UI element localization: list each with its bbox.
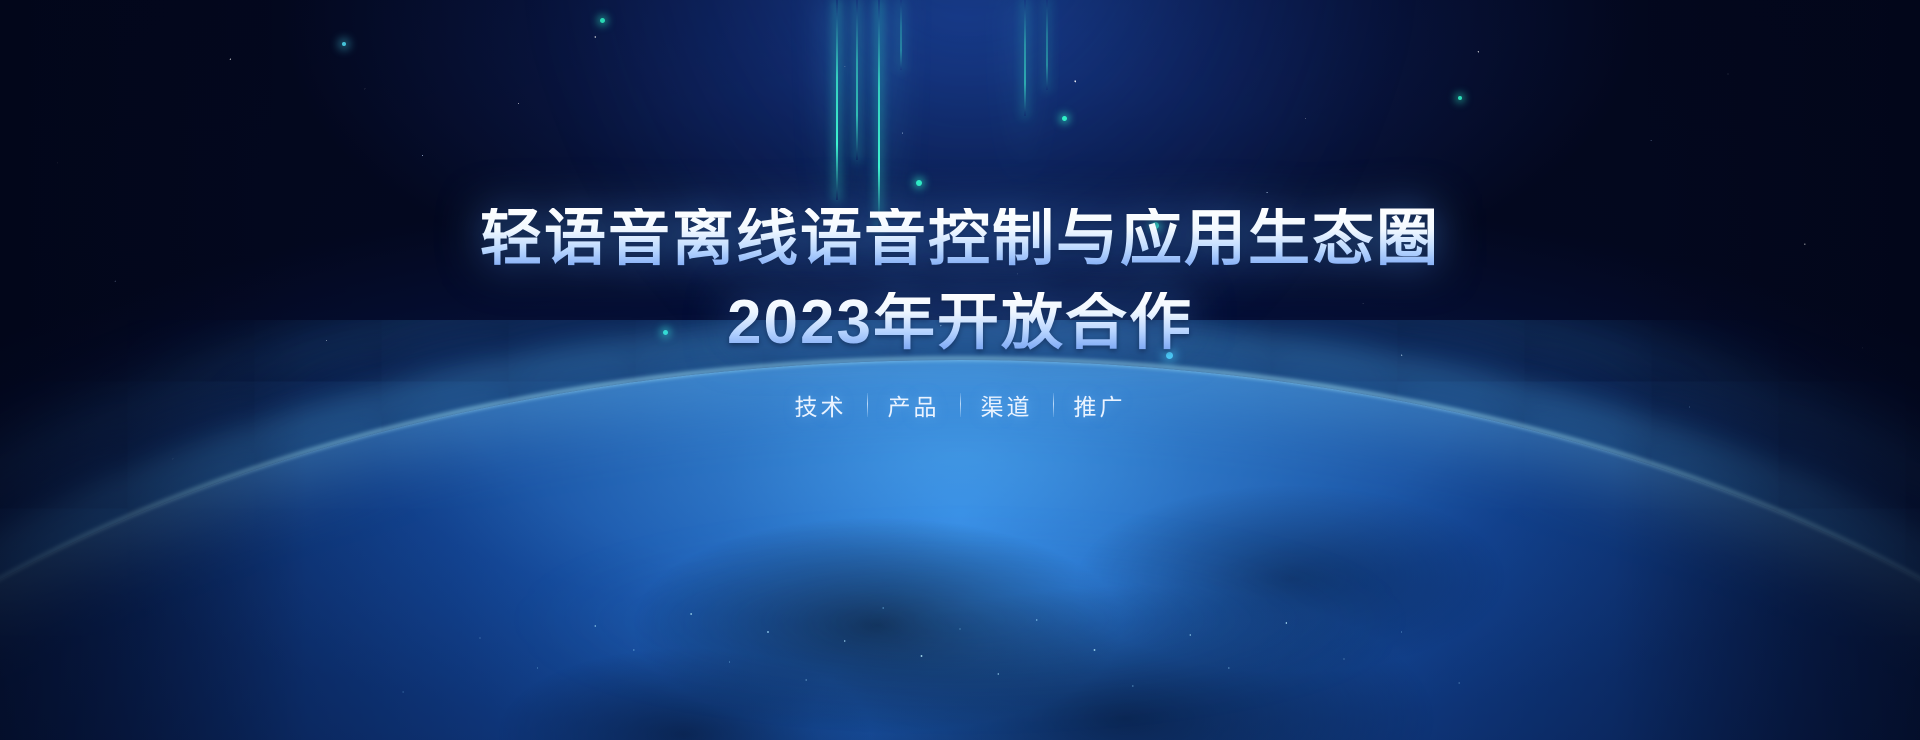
sparkle-dot	[916, 180, 922, 186]
earth-atmosphere-glow	[0, 320, 1920, 740]
light-column-center	[1012, 0, 1034, 190]
sparkle-dot	[342, 42, 346, 46]
subtitle-item-product: 产品	[868, 388, 960, 422]
city-lights	[0, 440, 1920, 740]
banner-subtitle: 技术 产品 渠道 推广	[0, 388, 1920, 422]
light-column-left	[824, 0, 850, 230]
subtitle-item-promotion: 推广	[1054, 388, 1146, 422]
banner-title-line-1: 轻语音离线语音控制与应用生态圈	[0, 208, 1920, 270]
promo-banner: 轻语音离线语音控制与应用生态圈 2023年开放合作 技术 产品 渠道 推广	[0, 0, 1920, 740]
earth-outer-rim-glow	[0, 322, 1920, 740]
earth-horizon	[0, 320, 1920, 740]
sparkle-dot	[1062, 116, 1067, 121]
subtitle-item-technology: 技术	[775, 388, 867, 422]
edge-vignette	[0, 0, 1920, 740]
banner-title-line-2: 2023年开放合作	[0, 292, 1920, 354]
starfield-bright	[0, 0, 1920, 740]
city-lights-glow	[510, 530, 1410, 710]
sparkle-dot	[600, 18, 605, 23]
starfield-dim	[0, 0, 1920, 740]
sparkle-dot	[1458, 96, 1462, 100]
subtitle-item-channel: 渠道	[961, 388, 1053, 422]
